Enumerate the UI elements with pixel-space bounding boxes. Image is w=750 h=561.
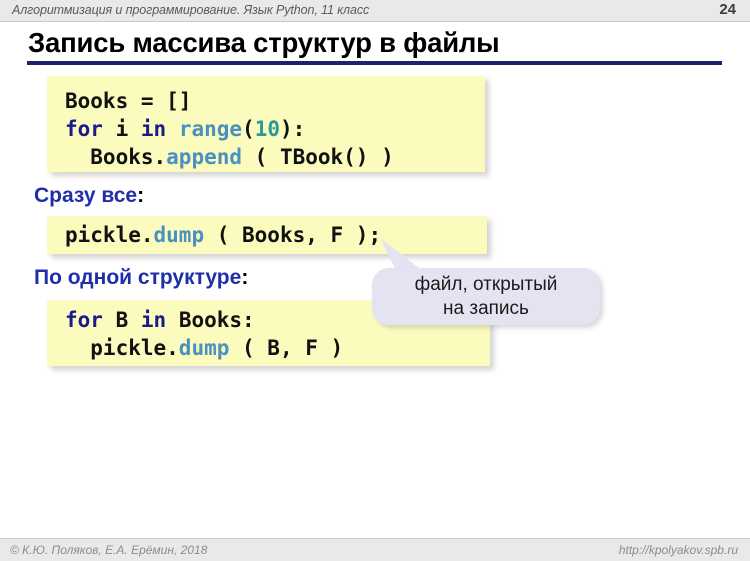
header-course-title: Алгоритмизация и программирование. Язык …: [12, 3, 369, 17]
slide-page-number: 24: [719, 1, 736, 18]
code-block-array-init: Books = []for i in range(10): Books.appe…: [47, 76, 485, 172]
code-token-plain: i: [103, 117, 141, 141]
footer-bar: © К.Ю. Поляков, Е.А. Ерёмин, 2018 http:/…: [0, 539, 750, 561]
code-token-plain: ):: [280, 117, 305, 141]
code-token-plain: B: [103, 308, 141, 332]
code-token-plain: (: [242, 117, 255, 141]
code-token-fn: dump: [179, 336, 230, 360]
title-underline-rule: [27, 61, 722, 65]
code-line: pickle.dump ( B, F ): [65, 334, 490, 362]
section-label-one-by-one: По одной структуре:: [34, 266, 248, 290]
code-token-fn: append: [166, 145, 242, 169]
code-token-kw: in: [141, 117, 166, 141]
code-token-kw: for: [65, 117, 103, 141]
code-token-plain: Books = []: [65, 89, 191, 113]
code-token-plain: [166, 117, 179, 141]
section-label-one-by-one-text: По одной структуре: [34, 266, 241, 289]
code-token-kw: for: [65, 308, 103, 332]
code-token-plain: ( TBook() ): [242, 145, 394, 169]
callout-balloon: файл, открытый на запись: [372, 268, 600, 325]
code-token-plain: pickle.: [65, 223, 154, 247]
footer-url[interactable]: http://kpolyakov.spb.ru: [619, 543, 738, 557]
code-line: Books = []: [65, 87, 485, 115]
code-token-plain: ( Books, F );: [204, 223, 381, 247]
code-token-fn: range: [179, 117, 242, 141]
callout-text: файл, открытый на запись: [415, 273, 558, 319]
code-token-fn: dump: [154, 223, 205, 247]
code-token-plain: Books:: [166, 308, 255, 332]
page-title: Запись массива структур в файлы: [28, 27, 499, 59]
code-token-plain: ( B, F ): [229, 336, 343, 360]
section-label-all-at-once: Сразу все:: [34, 184, 144, 208]
colon-glyph: :: [137, 184, 144, 207]
code-token-num: 10: [255, 117, 280, 141]
section-label-all-at-once-text: Сразу все: [34, 184, 137, 207]
code-token-kw: in: [141, 308, 166, 332]
code-line: for i in range(10):: [65, 115, 485, 143]
colon-glyph: :: [241, 266, 248, 289]
code-token-plain: pickle.: [65, 336, 179, 360]
footer-copyright: © К.Ю. Поляков, Е.А. Ерёмин, 2018: [10, 543, 207, 557]
code-line: Books.append ( TBook() ): [65, 143, 485, 171]
code-token-plain: Books.: [65, 145, 166, 169]
